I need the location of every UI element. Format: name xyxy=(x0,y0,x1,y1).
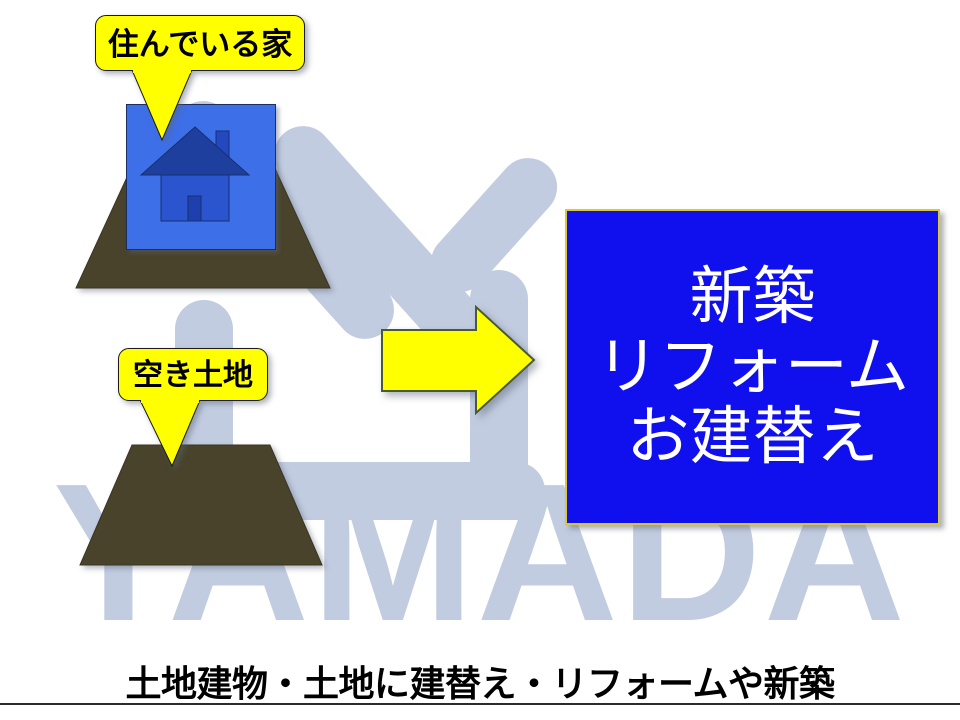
services-line-3: お建替え xyxy=(627,403,879,471)
slide-caption: 土地建物・土地に建替え・リフォームや新築 xyxy=(0,655,960,707)
callout-land-tail xyxy=(138,400,208,468)
services-line-1: 新築 xyxy=(690,263,816,331)
right-arrow xyxy=(378,303,538,419)
callout-land[interactable]: 空き土地 xyxy=(118,348,268,401)
bottom-divider xyxy=(0,703,960,705)
services-panel: 新築 リフォーム お建替え xyxy=(565,209,940,525)
callout-land-label: 空き土地 xyxy=(118,348,268,401)
slide-canvas: YAMADA 住んでいる家 xyxy=(0,0,960,720)
callout-house[interactable]: 住んでいる家 xyxy=(95,15,305,71)
callout-house-label: 住んでいる家 xyxy=(95,15,305,71)
callout-house-tail xyxy=(130,70,200,142)
services-line-2: リフォーム xyxy=(596,333,909,401)
